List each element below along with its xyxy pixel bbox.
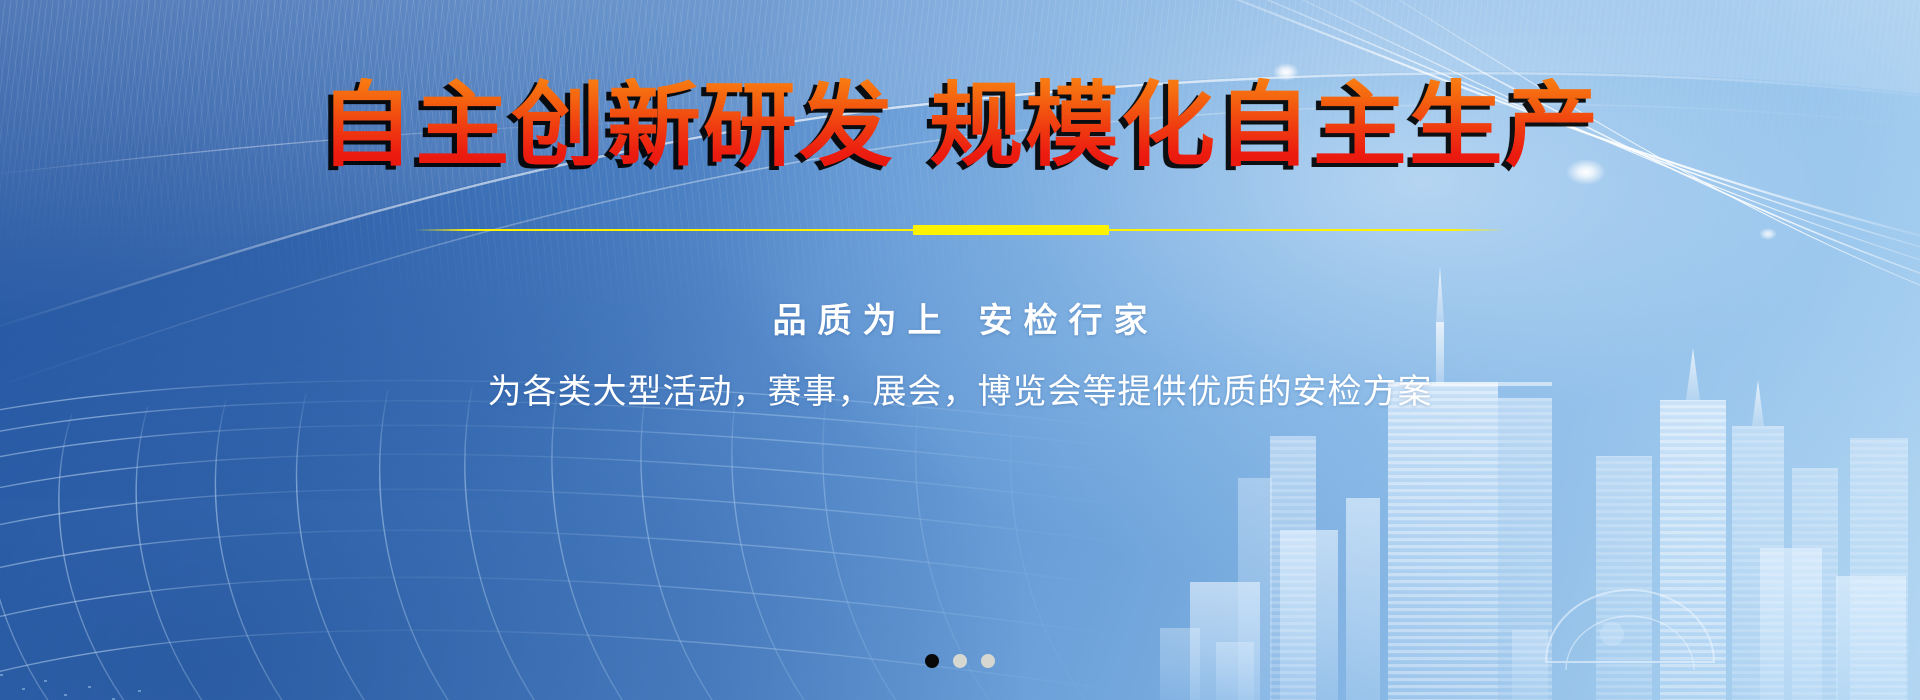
carousel-dot-2[interactable] — [953, 654, 967, 668]
divider-thick-segment — [913, 225, 1109, 235]
carousel-dots[interactable] — [0, 654, 1920, 668]
subtitle-primary-segment-2: 安检行家 — [979, 301, 1159, 341]
subtitle-primary-segment-1: 品质为上 — [773, 301, 953, 341]
headline-part-1: 自主创新研发 — [319, 72, 894, 179]
yellow-divider — [415, 223, 1505, 237]
banner-content: 自主创新研发规模化自主生产 品质为上安检行家 为各类大型活动，赛事，展会，博览会… — [0, 0, 1920, 700]
carousel-dot-3[interactable] — [981, 654, 995, 668]
hero-banner: 自主创新研发规模化自主生产 品质为上安检行家 为各类大型活动，赛事，展会，博览会… — [0, 0, 1920, 700]
page-title: 自主创新研发规模化自主生产 — [319, 78, 1600, 175]
carousel-dot-1[interactable] — [925, 654, 939, 668]
subtitle-primary: 品质为上安检行家 — [762, 293, 1159, 342]
subtitle-secondary: 为各类大型活动，赛事，展会，博览会等提供优质的安检方案 — [488, 364, 1433, 413]
headline-part-2: 规模化自主生产 — [929, 72, 1600, 179]
